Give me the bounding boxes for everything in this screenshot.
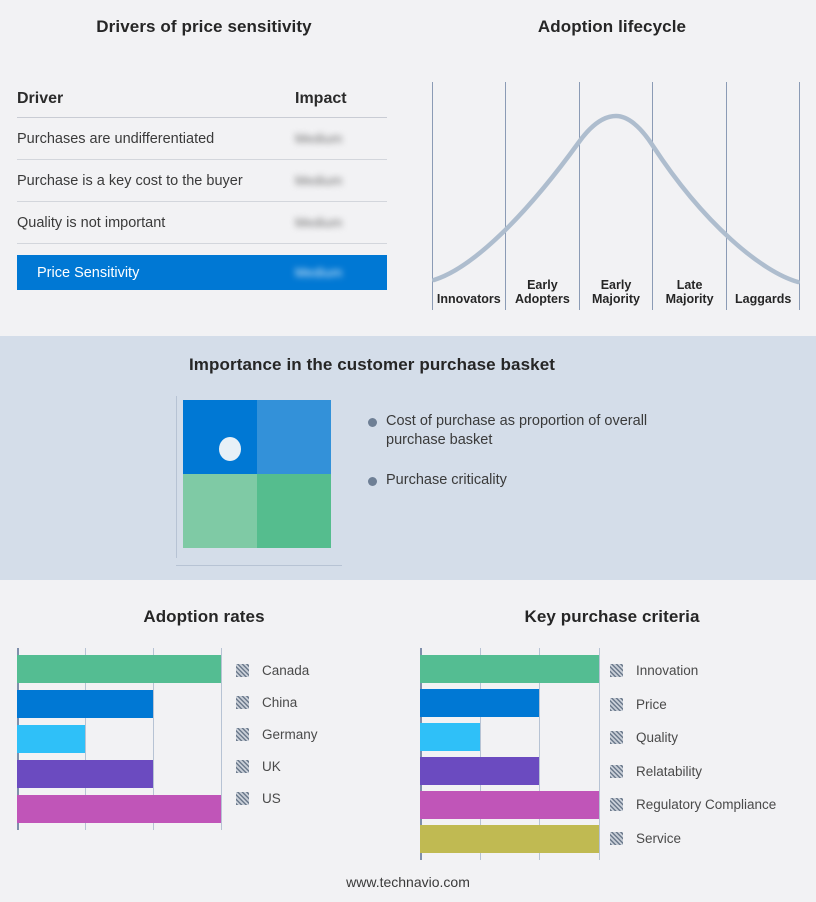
lifecycle-stage-2: EarlyAdopters <box>506 232 580 308</box>
lifecycle-title: Adoption lifecycle <box>408 17 816 37</box>
impact-redacted-text: Medium <box>295 265 342 280</box>
key-purchase-criteria-panel: Key purchase criteria InnovationPriceQua… <box>408 580 816 902</box>
bar-service <box>420 825 599 853</box>
lifecycle-stage-3: EarlyMajority <box>579 232 653 308</box>
matrix-x-axis <box>176 565 342 566</box>
drivers-table: Driver Impact Purchases are undifferenti… <box>17 90 387 290</box>
bar-uk <box>17 760 153 788</box>
gridline-3 <box>221 648 222 830</box>
legend-label: UK <box>262 759 281 774</box>
legend-item-regulatory-compliance: Regulatory Compliance <box>610 788 776 822</box>
bar-germany <box>17 725 85 753</box>
lifecycle-stage-4: LateMajority <box>653 232 727 308</box>
impact-value: Medium <box>295 130 387 148</box>
legend-label: Relatability <box>636 764 702 779</box>
legend-item-service: Service <box>610 822 776 856</box>
adoption-rates-title: Adoption rates <box>0 607 408 627</box>
quadrant-top-right <box>257 400 331 474</box>
driver-name: Purchase is a key cost to the buyer <box>17 173 295 189</box>
column-header-driver: Driver <box>17 90 295 108</box>
bar-innovation <box>420 655 599 683</box>
matrix-bubble <box>219 437 241 461</box>
basket-legend: Cost of purchase as proportion of overal… <box>368 412 668 511</box>
driver-name: Purchases are undifferentiated <box>17 131 295 147</box>
bullet-dot-icon <box>368 477 377 486</box>
legend-hatch-swatch-icon <box>610 731 623 744</box>
legend-hatch-swatch-icon <box>236 792 249 805</box>
matrix-y-axis <box>176 396 177 558</box>
bar-regulatory-compliance <box>420 791 599 819</box>
impact-value: Medium <box>295 264 387 282</box>
quadrant-top-left <box>183 400 257 474</box>
legend-label: Germany <box>262 727 318 742</box>
basket-legend-label: Cost of purchase as proportion of overal… <box>386 412 648 450</box>
adoption-lifecycle-panel: Adoption lifecycle InnovatorsEarlyAdopte… <box>408 0 816 336</box>
criteria-chart <box>420 648 599 860</box>
legend-label: US <box>262 791 281 806</box>
legend-label: Price <box>636 697 667 712</box>
adoption-rates-legend: CanadaChinaGermanyUKUS <box>236 654 318 814</box>
bar-plot-area <box>420 648 599 860</box>
legend-item-canada: Canada <box>236 654 318 686</box>
impact-redacted-text: Medium <box>295 215 342 230</box>
legend-hatch-swatch-icon <box>236 664 249 677</box>
legend-item-price: Price <box>610 688 776 722</box>
impact-redacted-text: Medium <box>295 173 342 188</box>
legend-label: Quality <box>636 730 678 745</box>
drivers-panel: Drivers of price sensitivity Driver Impa… <box>0 0 408 336</box>
impact-redacted-text: Medium <box>295 131 342 146</box>
legend-label: China <box>262 695 297 710</box>
impact-value: Medium <box>295 172 387 190</box>
legend-hatch-swatch-icon <box>610 698 623 711</box>
footer-url: www.technavio.com <box>0 874 816 890</box>
quadrant-bottom-left <box>183 474 257 548</box>
bar-relatability <box>420 757 539 785</box>
driver-row: Purchases are undifferentiatedMedium <box>17 118 387 160</box>
bar-us <box>17 795 221 823</box>
legend-item-relatability: Relatability <box>610 755 776 789</box>
basket-title: Importance in the customer purchase bask… <box>0 355 744 375</box>
driver-name: Quality is not important <box>17 215 295 231</box>
legend-hatch-swatch-icon <box>610 664 623 677</box>
legend-hatch-swatch-icon <box>236 728 249 741</box>
legend-item-innovation: Innovation <box>610 654 776 688</box>
quadrant-bottom-right <box>257 474 331 548</box>
legend-label: Innovation <box>636 663 698 678</box>
bar-quality <box>420 723 480 751</box>
bar-china <box>17 690 153 718</box>
legend-hatch-swatch-icon <box>610 832 623 845</box>
legend-label: Regulatory Compliance <box>636 797 776 812</box>
criteria-title: Key purchase criteria <box>408 607 816 627</box>
legend-item-china: China <box>236 686 318 718</box>
gridline-3 <box>599 648 600 860</box>
basket-legend-item: Purchase criticality <box>368 471 668 490</box>
legend-hatch-swatch-icon <box>610 765 623 778</box>
adoption-rates-panel: Adoption rates CanadaChinaGermanyUKUS <box>0 580 408 902</box>
driver-row-highlight: Price SensitivityMedium <box>17 255 387 290</box>
matrix-quadrants <box>183 400 331 548</box>
drivers-rows: Purchases are undifferentiatedMediumPurc… <box>17 118 387 290</box>
legend-item-germany: Germany <box>236 718 318 750</box>
legend-hatch-swatch-icon <box>236 760 249 773</box>
table-header-row: Driver Impact <box>17 90 387 118</box>
criteria-legend: InnovationPriceQualityRelatabilityRegula… <box>610 654 776 855</box>
driver-row: Purchase is a key cost to the buyerMediu… <box>17 160 387 202</box>
legend-label: Service <box>636 831 681 846</box>
legend-hatch-swatch-icon <box>236 696 249 709</box>
basket-legend-label: Purchase criticality <box>386 471 507 490</box>
drivers-title: Drivers of price sensitivity <box>0 17 408 37</box>
driver-row: Quality is not importantMedium <box>17 202 387 244</box>
lifecycle-stage-5: Laggards <box>726 232 800 308</box>
driver-name: Price Sensitivity <box>37 265 295 281</box>
adoption-rates-chart <box>17 648 221 830</box>
bar-plot-area <box>17 648 221 830</box>
bullet-dot-icon <box>368 418 377 427</box>
bar-canada <box>17 655 221 683</box>
legend-label: Canada <box>262 663 309 678</box>
legend-item-us: US <box>236 782 318 814</box>
lifecycle-stage-1: Innovators <box>432 232 506 308</box>
legend-item-uk: UK <box>236 750 318 782</box>
basket-legend-item: Cost of purchase as proportion of overal… <box>368 412 668 450</box>
purchase-basket-panel: Importance in the customer purchase bask… <box>0 336 816 580</box>
column-header-impact: Impact <box>295 90 387 108</box>
impact-value: Medium <box>295 214 387 232</box>
basket-matrix <box>176 396 342 566</box>
bar-price <box>420 689 539 717</box>
legend-item-quality: Quality <box>610 721 776 755</box>
legend-hatch-swatch-icon <box>610 798 623 811</box>
lifecycle-stage-labels: InnovatorsEarlyAdoptersEarlyMajorityLate… <box>432 232 800 308</box>
